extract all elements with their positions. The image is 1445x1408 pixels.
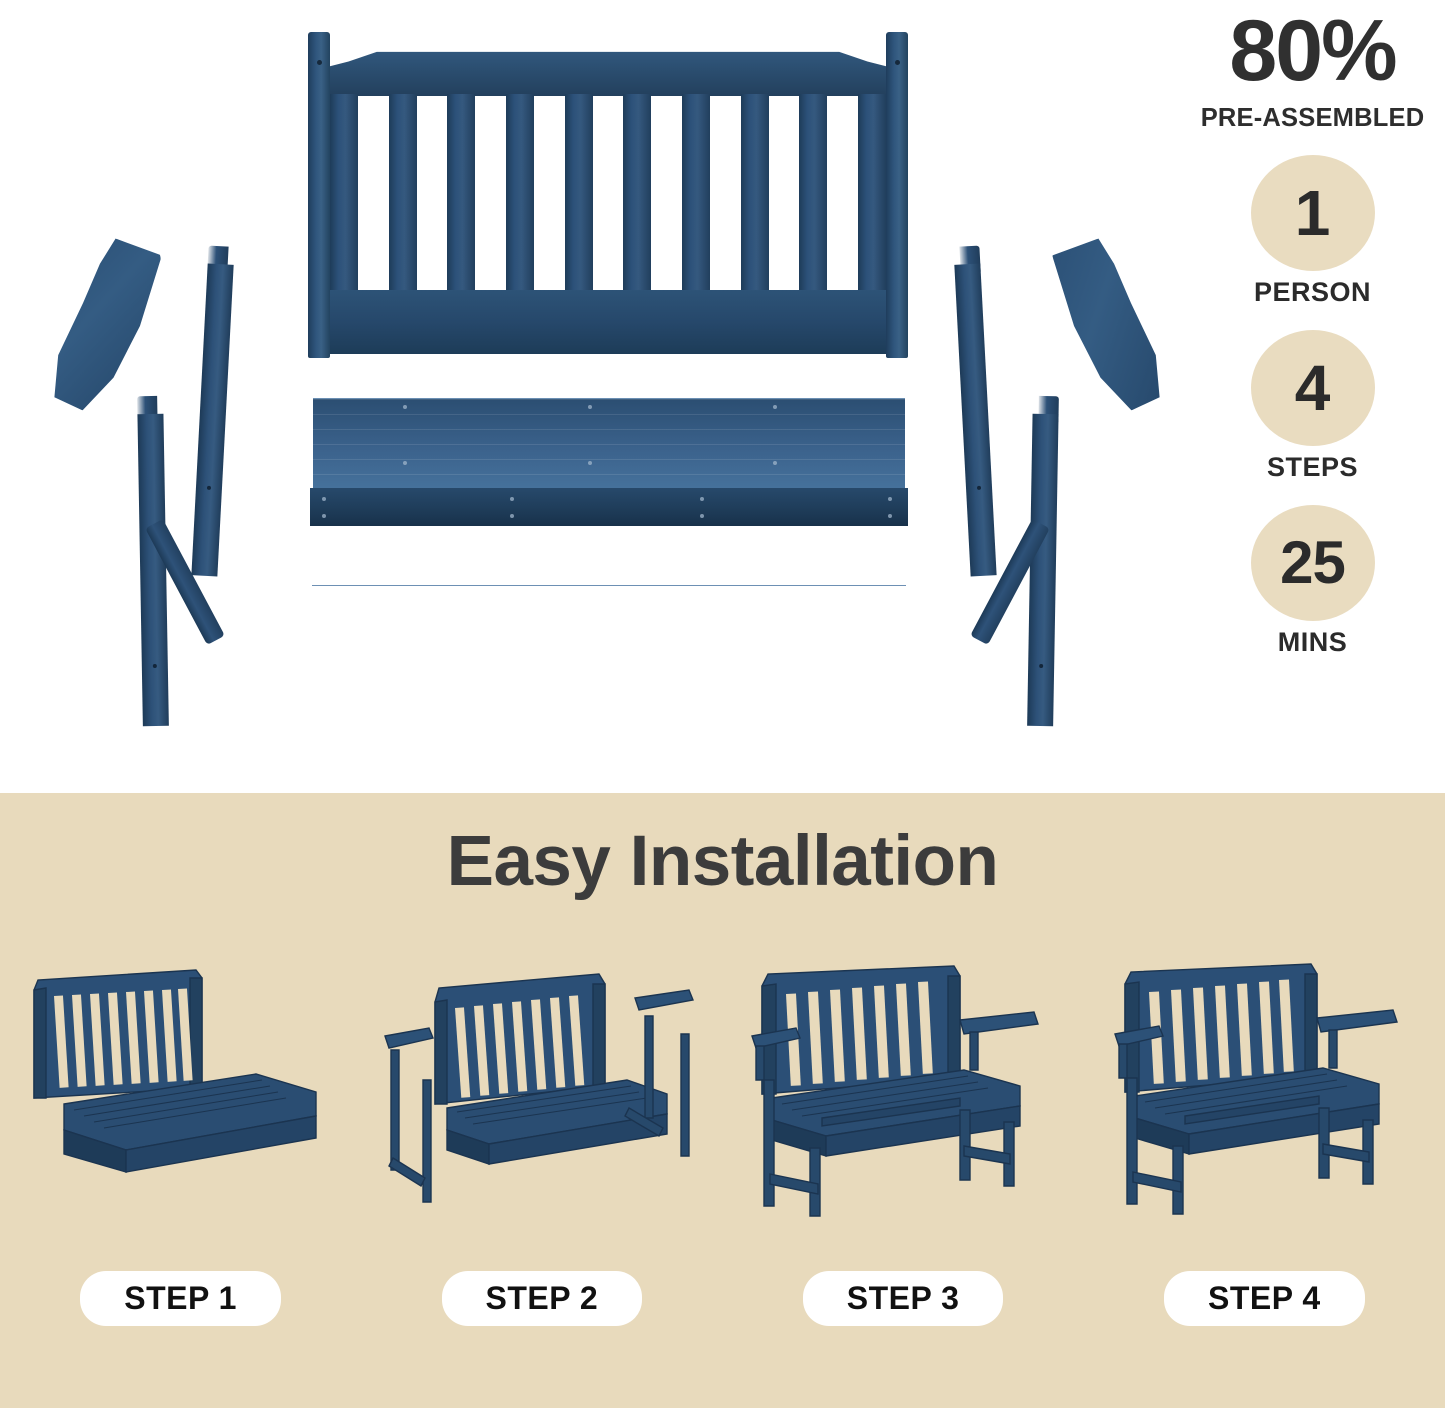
seat-front-apron [310, 488, 908, 526]
pre-assembled-percent: 80% [1229, 8, 1395, 94]
stat-steps: 4 STEPS [1251, 330, 1375, 483]
step-labels-row: STEP 1 STEP 2 STEP 3 STEP 4 [0, 1272, 1445, 1324]
backrest-slat [506, 94, 534, 292]
stat-label-mins: MINS [1278, 627, 1348, 658]
seat-slats [313, 398, 905, 490]
backrest-slat [330, 94, 358, 292]
step-2-illustration [361, 953, 722, 1253]
backrest-slat [623, 94, 651, 292]
stat-mins: 25 MINS [1251, 505, 1375, 658]
armrest-left [45, 231, 164, 420]
step-4-illustration [1084, 953, 1445, 1253]
stat-number-steps: 4 [1295, 356, 1331, 420]
installation-steps-row [0, 953, 1445, 1253]
stat-circle-steps: 4 [1251, 330, 1375, 446]
step-3-illustration [723, 953, 1084, 1253]
leg-right-front [953, 246, 996, 577]
step-2-bench-svg [377, 958, 707, 1248]
step-1-label[interactable]: STEP 1 [80, 1271, 281, 1326]
step-4-bench-svg [1099, 958, 1429, 1248]
stat-number-mins: 25 [1280, 533, 1345, 593]
step-4-label[interactable]: STEP 4 [1164, 1271, 1365, 1326]
step-2-label[interactable]: STEP 2 [442, 1271, 643, 1326]
seat-panel [310, 398, 908, 526]
backrest-slat [389, 94, 417, 292]
backrest-slat [447, 94, 475, 292]
leg-left-front [191, 246, 234, 577]
step-1-bench-svg [16, 958, 346, 1248]
step-1-illustration [0, 953, 361, 1253]
easy-installation-title: Easy Installation [0, 793, 1445, 902]
stretcher-rail [312, 585, 906, 611]
step-3-bench-svg [738, 958, 1068, 1248]
exploded-parts-section: 80% PRE-ASSEMBLED 1 PERSON 4 STEPS 25 MI… [0, 0, 1445, 793]
backrest-post-right [886, 32, 908, 358]
backrest-top-rail [326, 48, 890, 96]
backrest-slat [799, 94, 827, 292]
backrest-slat [682, 94, 710, 292]
backrest-slat [741, 94, 769, 292]
backrest-slat-group [330, 94, 886, 292]
pre-assembled-label: PRE-ASSEMBLED [1201, 104, 1425, 133]
backrest-slat [858, 94, 886, 292]
backrest-panel [308, 28, 908, 358]
stats-column: 80% PRE-ASSEMBLED 1 PERSON 4 STEPS 25 MI… [1180, 0, 1445, 793]
stat-label-steps: STEPS [1267, 452, 1358, 483]
stat-circle-mins: 25 [1251, 505, 1375, 621]
stat-person: 1 PERSON [1251, 155, 1375, 308]
armrest-right [1051, 231, 1170, 420]
parts-stage [0, 0, 1180, 793]
backrest-bottom-rail [326, 290, 890, 354]
stat-label-person: PERSON [1254, 277, 1371, 308]
stat-circle-person: 1 [1251, 155, 1375, 271]
step-3-label[interactable]: STEP 3 [803, 1271, 1004, 1326]
stat-number-person: 1 [1295, 181, 1331, 245]
backrest-slat [565, 94, 593, 292]
backrest-post-left [308, 32, 330, 358]
